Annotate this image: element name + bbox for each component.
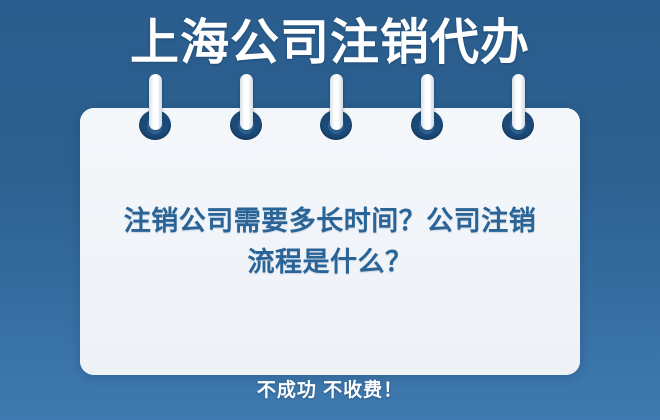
poster-canvas: 上海公司注销代办 注销公司需要多长时间？公司注销流程是什么？ <box>0 0 660 420</box>
notepad-card-content: 注销公司需要多长时间？公司注销流程是什么？ <box>80 108 580 375</box>
footer-slogan: 不成功 不收费！ <box>257 378 403 404</box>
poster-title-area: 上海公司注销代办 <box>0 14 660 72</box>
poster-footer-area: 不成功 不收费！ <box>0 378 660 404</box>
headline-question: 注销公司需要多长时间？公司注销流程是什么？ <box>120 201 540 283</box>
notepad-card: 注销公司需要多长时间？公司注销流程是什么？ <box>80 108 580 375</box>
page-title: 上海公司注销代办 <box>130 14 530 72</box>
